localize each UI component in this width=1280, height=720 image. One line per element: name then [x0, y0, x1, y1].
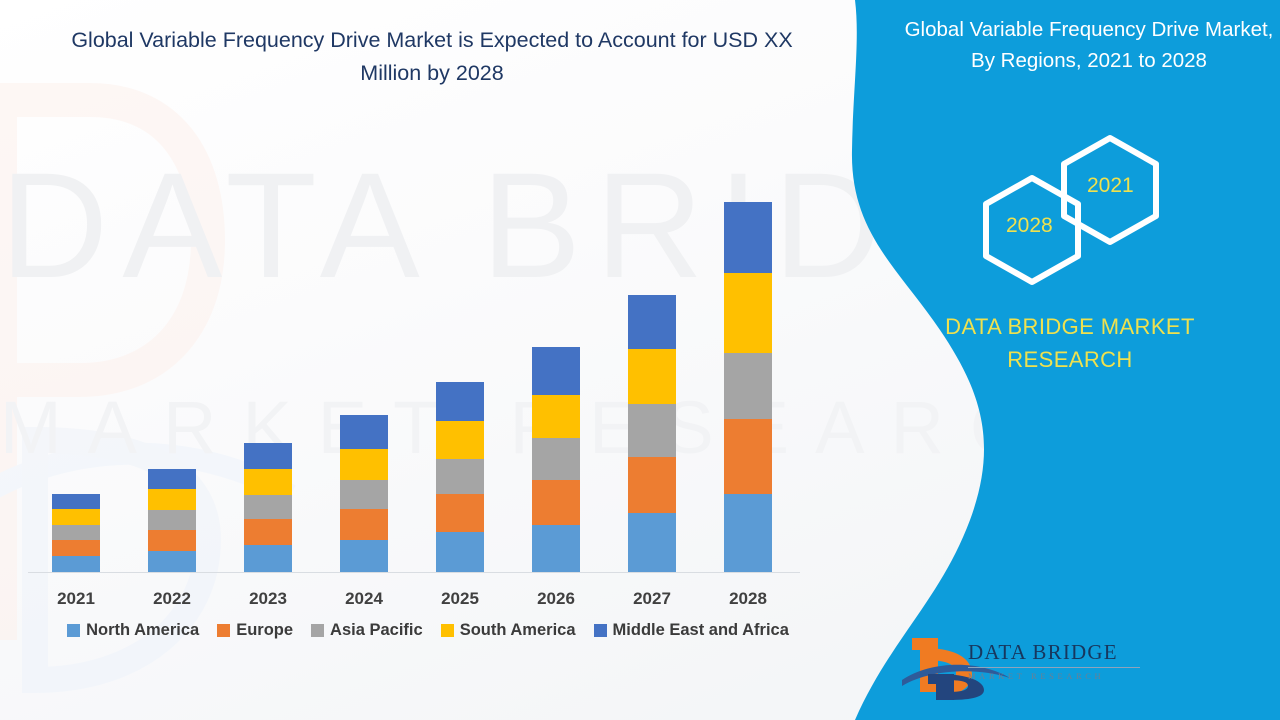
legend-item[interactable]: Middle East and Africa [594, 621, 789, 640]
brand-name: DATA BRIDGE MARKET RESEARCH [900, 310, 1240, 376]
x-axis-tick: 2024 [316, 589, 412, 609]
chart-legend: North AmericaEuropeAsia PacificSouth Ame… [28, 617, 828, 643]
x-axis-tick: 2023 [220, 589, 316, 609]
plot-area [28, 130, 800, 573]
logo-sub-text: MARKET RESEARCH [968, 671, 1148, 681]
bar-segment [628, 404, 676, 457]
legend-swatch [217, 624, 230, 637]
bar-segment [52, 509, 100, 525]
bar-segment [628, 295, 676, 349]
stacked-bar[interactable] [148, 469, 196, 573]
bar-segment [340, 449, 388, 480]
bar-segment [532, 438, 580, 480]
bar-segment [244, 443, 292, 469]
legend-item[interactable]: South America [441, 621, 576, 640]
x-axis-tick: 2021 [28, 589, 124, 609]
bar-segment [52, 540, 100, 556]
bar-segment [436, 382, 484, 421]
hexagon-badges: 2028 2021 [970, 130, 1200, 290]
bar-segment [724, 273, 772, 353]
bar-segment [244, 469, 292, 495]
legend-label: Europe [236, 621, 293, 640]
legend-item[interactable]: Europe [217, 621, 293, 640]
stacked-bar[interactable] [532, 347, 580, 573]
bar-segment [724, 494, 772, 573]
right-brand-panel: Global Variable Frequency Drive Market, … [820, 0, 1280, 720]
stacked-bar[interactable] [436, 382, 484, 573]
stacked-bar[interactable] [724, 202, 772, 573]
stacked-bar[interactable] [52, 494, 100, 573]
logo-wordmark: DATA BRIDGE MARKET RESEARCH [968, 640, 1148, 681]
panel-title: Global Variable Frequency Drive Market, … [898, 14, 1280, 76]
legend-label: North America [86, 621, 199, 640]
axis-baseline [28, 572, 800, 573]
stacked-bar-chart: 20212022202320242025202620272028 [0, 0, 840, 660]
bar-segment [628, 349, 676, 404]
bar-segment [532, 525, 580, 573]
bar-segment [148, 469, 196, 489]
bar-segment [532, 347, 580, 395]
legend-label: South America [460, 621, 576, 640]
bar-segment [628, 457, 676, 513]
bar-segment [724, 419, 772, 494]
bar-segment [244, 519, 292, 545]
bar-segment [724, 353, 772, 419]
bar-segment [628, 513, 676, 573]
bar-segment [340, 540, 388, 573]
bar-segment [532, 480, 580, 525]
x-axis-tick: 2028 [700, 589, 796, 609]
bar-segment [148, 551, 196, 573]
bar-segment [148, 530, 196, 551]
bar-segment [340, 480, 388, 509]
legend-swatch [67, 624, 80, 637]
legend-swatch [594, 624, 607, 637]
legend-item[interactable]: North America [67, 621, 199, 640]
logo-divider [968, 667, 1140, 668]
bar-segment [340, 509, 388, 540]
legend-label: Asia Pacific [330, 621, 423, 640]
legend-label: Middle East and Africa [613, 621, 789, 640]
bar-segment [52, 494, 100, 509]
stacked-bar[interactable] [628, 295, 676, 573]
bar-segment [436, 532, 484, 573]
x-axis-tick: 2022 [124, 589, 220, 609]
infographic-canvas: DATA BRIDGE MARKET RESEARCH Global Varia… [0, 0, 1280, 720]
bar-segment [52, 556, 100, 573]
legend-swatch [441, 624, 454, 637]
bar-segment [340, 415, 388, 449]
bar-segment [436, 494, 484, 532]
legend-item[interactable]: Asia Pacific [311, 621, 423, 640]
hexagon-2021-label: 2021 [1087, 174, 1134, 198]
bar-segment [532, 395, 580, 438]
stacked-bar[interactable] [244, 443, 292, 573]
bar-segment [436, 421, 484, 459]
stacked-bar[interactable] [340, 415, 388, 573]
bar-segment [52, 525, 100, 540]
bar-segment [244, 495, 292, 519]
x-axis-tick: 2026 [508, 589, 604, 609]
bar-segment [148, 489, 196, 510]
x-axis-tick: 2025 [412, 589, 508, 609]
bar-segment [148, 510, 196, 530]
bar-segment [436, 459, 484, 494]
legend-swatch [311, 624, 324, 637]
hexagon-2028-label: 2028 [1006, 214, 1053, 238]
logo-main-text: DATA BRIDGE [968, 640, 1148, 665]
bar-segment [244, 545, 292, 573]
x-axis-tick: 2027 [604, 589, 700, 609]
x-axis-labels: 20212022202320242025202620272028 [28, 589, 800, 615]
bar-segment [724, 202, 772, 273]
